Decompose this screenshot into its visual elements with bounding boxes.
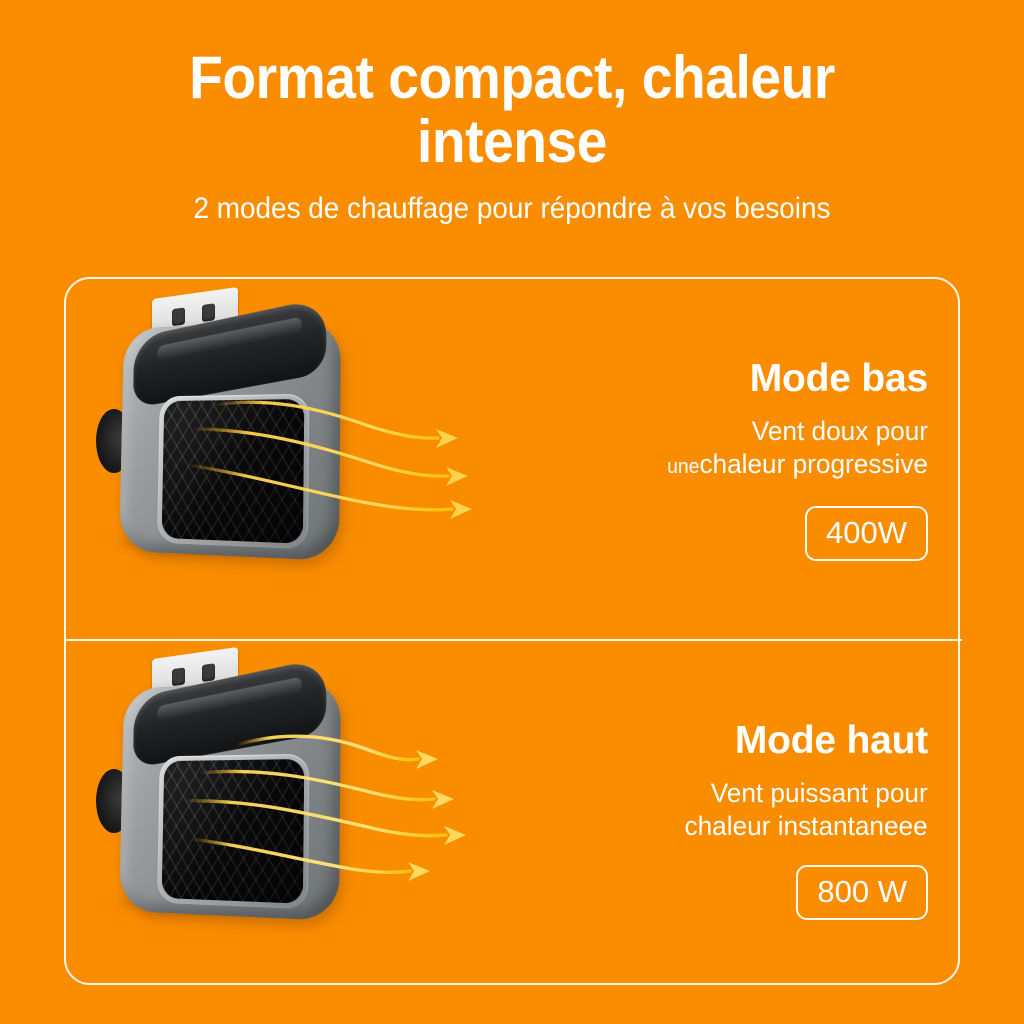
mesh-grille-icon — [162, 399, 305, 544]
prong-left — [172, 667, 185, 686]
mode-high-visual — [66, 639, 566, 999]
prong-left — [172, 307, 185, 326]
space-heater-icon — [90, 653, 390, 983]
prong-right — [202, 303, 215, 322]
device-grille-frame — [157, 394, 310, 549]
mode-row-high: Mode haut Vent puissant pour chaleur ins… — [66, 639, 962, 999]
modes-card: Mode bas Vent doux pour unechaleur progr… — [64, 277, 960, 985]
mode-high-power-badge: 800 W — [796, 865, 928, 920]
device-grille-frame — [157, 754, 310, 909]
mode-high-title: Mode haut — [735, 719, 928, 763]
mode-low-text: Mode bas Vent doux pour unechaleur progr… — [566, 279, 962, 639]
mode-high-description: Vent puissant pour chaleur instantaneee — [685, 777, 928, 843]
mode-low-title: Mode bas — [750, 357, 928, 401]
prong-right — [202, 663, 215, 682]
mode-high-text: Mode haut Vent puissant pour chaleur ins… — [566, 639, 962, 999]
header: Format compact, chaleur intense 2 modes … — [0, 46, 1024, 226]
space-heater-icon — [90, 293, 390, 623]
device-body — [119, 319, 341, 561]
mode-low-power-badge: 400W — [805, 506, 928, 561]
infographic-page: Format compact, chaleur intense 2 modes … — [0, 0, 1024, 1024]
device-body — [119, 679, 341, 921]
mode-low-desc-small: une — [667, 456, 699, 478]
mesh-grille-icon — [162, 759, 305, 904]
mode-row-low: Mode bas Vent doux pour unechaleur progr… — [66, 279, 962, 639]
page-title: Format compact, chaleur intense — [41, 46, 983, 174]
mode-low-desc-line1: Vent doux pour — [752, 416, 928, 446]
mode-low-description: Vent doux pour unechaleur progressive — [667, 415, 928, 484]
page-subtitle: 2 modes de chauffage pour répondre à vos… — [36, 192, 988, 226]
mode-low-visual — [66, 279, 566, 639]
mode-high-desc-line2: chaleur instantaneee — [685, 811, 928, 841]
mode-low-desc-line2: chaleur progressive — [699, 449, 928, 479]
mode-high-desc-line1: Vent puissant pour — [711, 778, 928, 808]
